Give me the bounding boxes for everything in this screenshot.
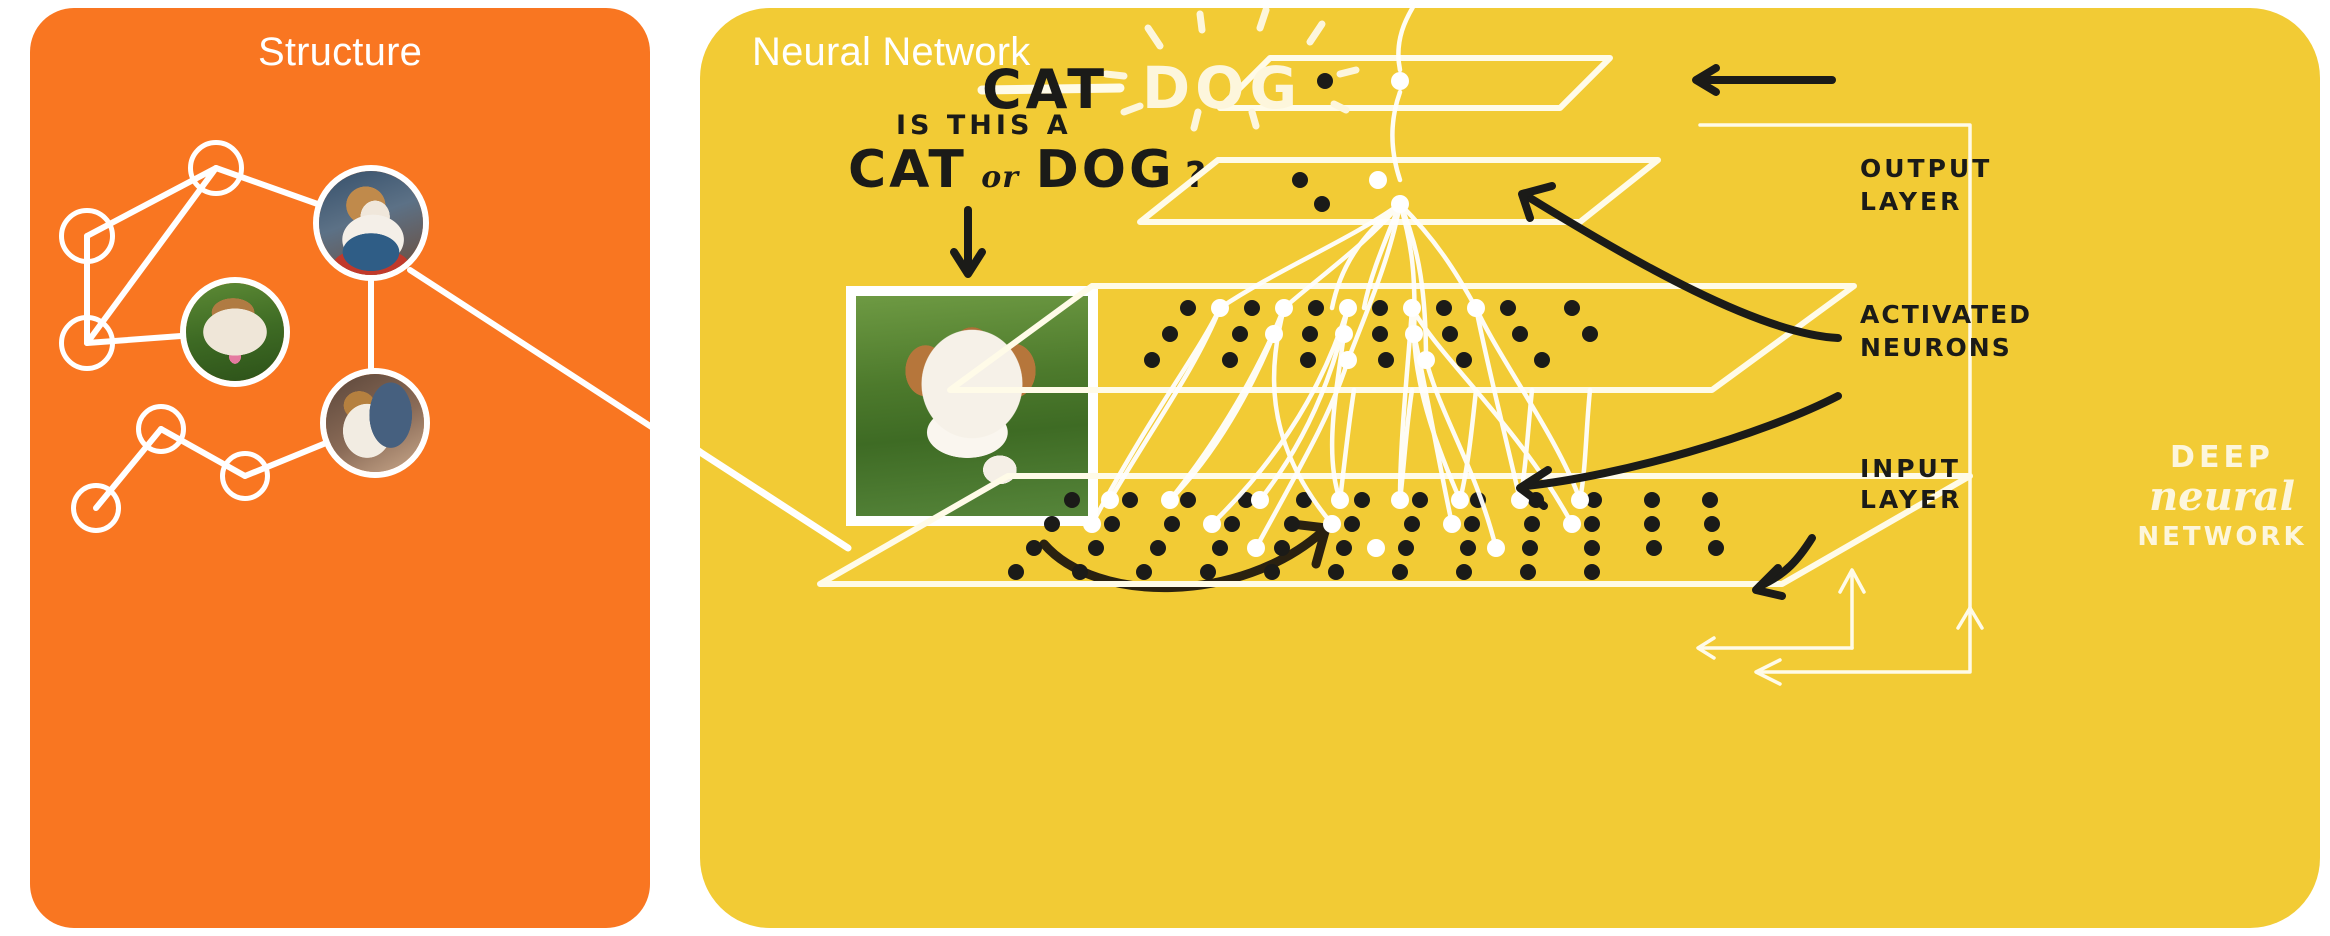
question-cat-word: CAT: [848, 140, 967, 200]
input-photo-frame[interactable]: [846, 286, 1098, 526]
graph-node[interactable]: [220, 451, 270, 501]
structure-panel-title: Structure: [30, 30, 650, 75]
verdict-cat-rejected: CAT: [982, 58, 1108, 121]
bulldog-on-bedding-photo: [319, 171, 423, 275]
graph-node[interactable]: [59, 315, 115, 371]
input-layer-label: INPUT LAYER: [1860, 454, 1962, 514]
hidden-layer-1-neurons: [1144, 299, 1598, 369]
input-layer-label-line2: LAYER: [1860, 485, 1962, 514]
deep-label-line1: DEEP: [2112, 440, 2320, 475]
output-layer-label-line1: OUTPUT: [1860, 154, 1992, 183]
infographic-canvas: Structure: [0, 0, 2330, 936]
output-layer-neurons: [1317, 72, 1409, 90]
deep-neural-network-label: DEEP neural NETWORK: [2112, 440, 2320, 552]
graph-node[interactable]: [59, 208, 115, 264]
hidden-layer-2-neurons: [1292, 171, 1409, 213]
question-mark: ?: [1185, 155, 1208, 196]
graph-photo-node-bulldog-on-grass[interactable]: [180, 277, 290, 387]
question-dog-word: DOG: [1036, 140, 1175, 200]
deep-network-pointer: [1698, 570, 1864, 658]
input-layer-leader: [1660, 514, 1820, 598]
deep-label-line2: neural: [2112, 473, 2320, 520]
activated-neurons-label-line1: ACTIVATED: [1860, 300, 2032, 329]
structure-panel: Structure: [30, 8, 650, 928]
question-line-2: CAT or DOG ?: [848, 140, 1208, 200]
activated-neurons-label-line2: NEURONS: [1860, 333, 2032, 362]
bulldog-puppy-photo: [856, 296, 1088, 516]
verdict-dog-chosen: DOG: [1142, 54, 1302, 122]
activated-neurons-label: ACTIVATED NEURONS: [1860, 300, 2032, 362]
activated-neurons-pointer-upper: [1522, 186, 1838, 338]
question-or-word: or: [981, 160, 1019, 195]
input-layer-neurons: [1008, 491, 1724, 580]
graph-node[interactable]: [71, 483, 121, 533]
output-layer-label: OUTPUT LAYER: [1860, 154, 1992, 216]
hidden-layer-2-plane: [1140, 160, 1658, 222]
graph-photo-node-bulldog-beside-jeans[interactable]: [320, 368, 430, 478]
activated-neurons-pointer-lower: [1520, 396, 1838, 506]
input-layer-label-line1: INPUT: [1860, 454, 1962, 483]
deep-label-line3: NETWORK: [2112, 522, 2320, 552]
bulldog-beside-jeans-photo: [326, 374, 424, 472]
neural-network-panel: Neural Network IS THIS A CAT or DOG ?: [700, 8, 2320, 928]
output-layer-label-line2: LAYER: [1860, 187, 1992, 216]
graph-node[interactable]: [188, 140, 244, 196]
graph-node[interactable]: [136, 404, 186, 454]
graph-photo-node-bulldog-on-bedding[interactable]: [313, 165, 429, 281]
output-layer-pointer: [1696, 68, 1832, 92]
bulldog-on-grass-photo: [186, 283, 284, 381]
input-layer-pointer: [1756, 538, 1812, 596]
